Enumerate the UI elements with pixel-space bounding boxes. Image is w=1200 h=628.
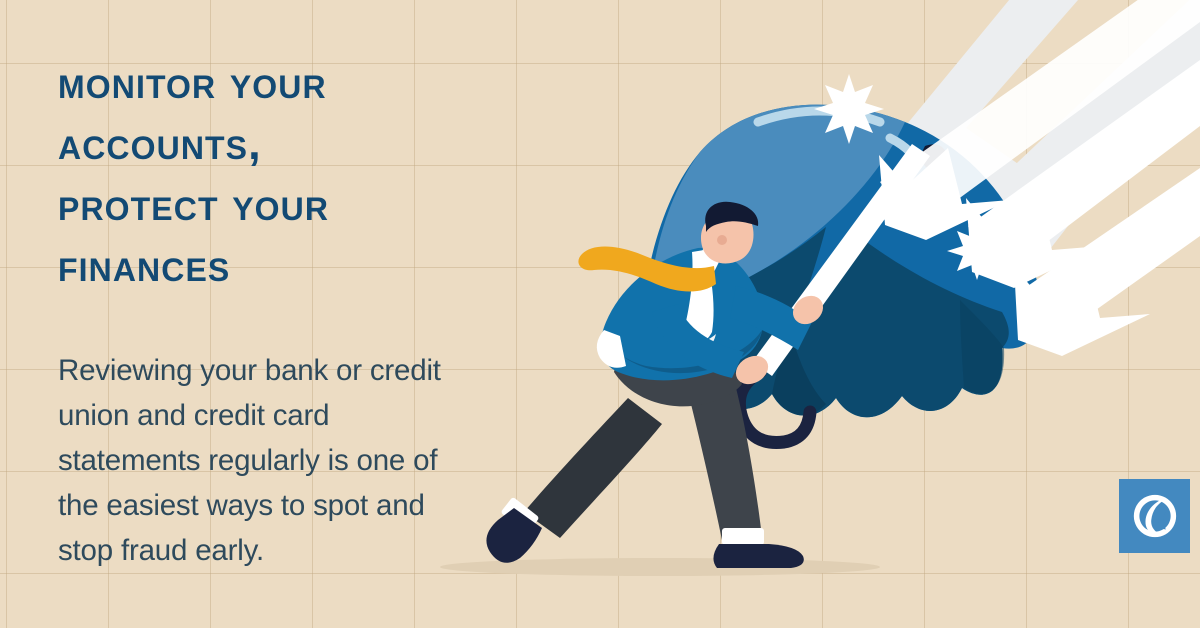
headline-line-1: Monitor Your [58, 52, 478, 113]
figure-ear [717, 235, 727, 245]
poster-canvas: Monitor Your Accounts, Protect Your Fina… [0, 0, 1200, 628]
headline-line-3: Protect Your [58, 174, 478, 235]
text-column: Monitor Your Accounts, Protect Your Fina… [58, 52, 478, 296]
figure-back-leg [524, 398, 662, 538]
brand-logo[interactable] [1119, 479, 1190, 553]
figure-shoe-front [713, 544, 803, 568]
page-title: Monitor Your Accounts, Protect Your Fina… [58, 52, 478, 296]
figure-sock-front [722, 528, 764, 545]
headline-line-4: Finances [58, 235, 478, 296]
brand-mark-icon [1132, 493, 1178, 539]
figure-front-leg [688, 388, 762, 540]
headline-line-2: Accounts, [58, 113, 478, 174]
body-paragraph: Reviewing your bank or credit union and … [58, 348, 468, 573]
